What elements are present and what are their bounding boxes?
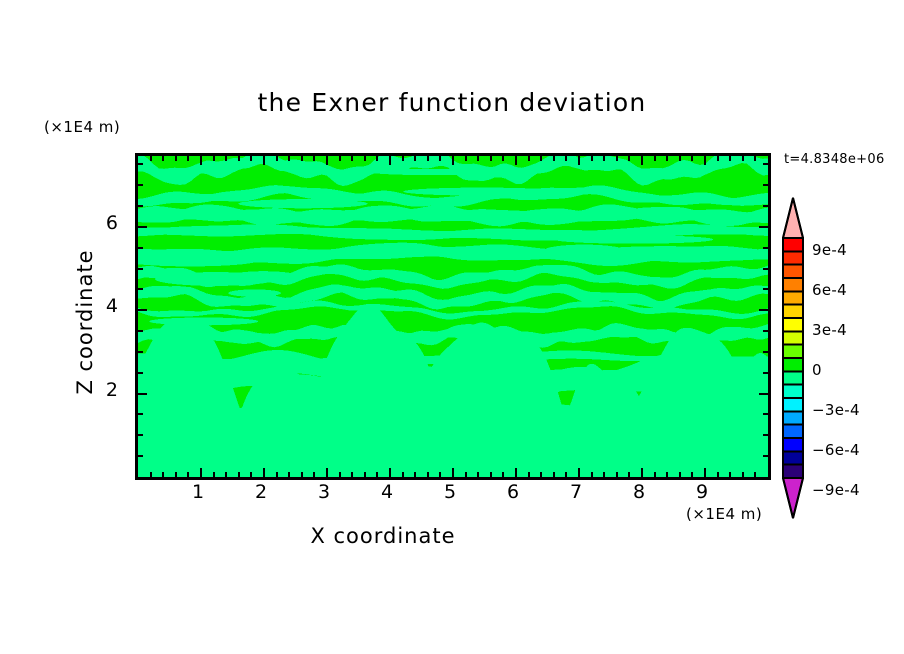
colorbar-tick-label: −9e-4 xyxy=(812,481,860,499)
y-minor-tick xyxy=(763,288,768,290)
x-minor-tick xyxy=(717,472,719,477)
chart-title: the Exner function deviation xyxy=(0,88,904,117)
x-tick-label: 2 xyxy=(241,481,281,503)
x-tick-label: 6 xyxy=(493,481,533,503)
x-tick-label: 4 xyxy=(367,481,407,503)
x-minor-tick xyxy=(490,156,492,161)
x-minor-tick xyxy=(742,472,744,477)
y-minor-tick xyxy=(138,205,143,207)
x-minor-tick xyxy=(465,156,467,161)
x-minor-tick xyxy=(150,156,152,161)
x-minor-tick xyxy=(654,156,656,161)
x-minor-tick xyxy=(162,472,164,477)
y-minor-tick xyxy=(138,351,143,353)
y-minor-tick xyxy=(138,455,143,457)
x-minor-tick xyxy=(742,156,744,161)
x-major-tick xyxy=(326,156,328,165)
x-minor-tick xyxy=(628,472,630,477)
x-minor-tick xyxy=(427,472,429,477)
x-axis-unit-label: (×1E4 m) xyxy=(686,505,762,523)
x-axis-title: X coordinate xyxy=(0,524,766,548)
colorbar xyxy=(782,196,804,520)
x-minor-tick xyxy=(490,472,492,477)
x-minor-tick xyxy=(679,156,681,161)
x-tick-label: 3 xyxy=(304,481,344,503)
y-minor-tick xyxy=(138,268,143,270)
x-minor-tick xyxy=(238,472,240,477)
x-minor-tick xyxy=(339,156,341,161)
y-minor-tick xyxy=(763,205,768,207)
y-minor-tick xyxy=(138,163,143,165)
x-minor-tick xyxy=(553,156,555,161)
x-minor-tick xyxy=(187,472,189,477)
y-minor-tick xyxy=(138,372,143,374)
x-minor-tick xyxy=(540,156,542,161)
x-major-tick xyxy=(515,468,517,477)
x-minor-tick xyxy=(540,472,542,477)
y-major-tick xyxy=(138,309,147,311)
x-minor-tick xyxy=(591,472,593,477)
y-minor-tick xyxy=(138,413,143,415)
x-minor-tick xyxy=(679,472,681,477)
x-minor-tick xyxy=(654,472,656,477)
x-minor-tick xyxy=(187,156,189,161)
x-minor-tick xyxy=(528,156,530,161)
x-minor-tick xyxy=(439,156,441,161)
x-minor-tick xyxy=(276,156,278,161)
y-major-tick xyxy=(138,226,147,228)
y-minor-tick xyxy=(763,413,768,415)
x-minor-tick xyxy=(301,472,303,477)
contour-plot-area xyxy=(135,153,771,480)
x-minor-tick xyxy=(238,156,240,161)
x-minor-tick xyxy=(477,472,479,477)
y-minor-tick xyxy=(763,351,768,353)
x-minor-tick xyxy=(313,472,315,477)
colorbar-tick-label: 0 xyxy=(812,361,822,379)
x-minor-tick xyxy=(376,472,378,477)
y-minor-tick xyxy=(763,163,768,165)
x-tick-label: 8 xyxy=(619,481,659,503)
x-minor-tick xyxy=(376,156,378,161)
x-minor-tick xyxy=(313,156,315,161)
y-major-tick xyxy=(138,393,147,395)
x-tick-label: 5 xyxy=(430,481,470,503)
x-minor-tick xyxy=(414,156,416,161)
y-minor-tick xyxy=(138,247,143,249)
x-minor-tick xyxy=(225,472,227,477)
y-major-tick xyxy=(759,309,768,311)
x-minor-tick xyxy=(591,156,593,161)
x-tick-label: 9 xyxy=(682,481,722,503)
x-minor-tick xyxy=(666,472,668,477)
x-major-tick xyxy=(578,156,580,165)
x-minor-tick xyxy=(691,156,693,161)
x-major-tick xyxy=(263,156,265,165)
x-minor-tick xyxy=(565,156,567,161)
x-tick-label: 7 xyxy=(556,481,596,503)
x-major-tick xyxy=(515,156,517,165)
x-minor-tick xyxy=(402,472,404,477)
x-minor-tick xyxy=(603,472,605,477)
x-major-tick xyxy=(704,156,706,165)
x-minor-tick xyxy=(616,472,618,477)
y-minor-tick xyxy=(763,184,768,186)
x-minor-tick xyxy=(339,472,341,477)
x-major-tick xyxy=(641,468,643,477)
timestamp-annotation: t=4.8348e+06 xyxy=(784,152,885,167)
x-minor-tick xyxy=(427,156,429,161)
y-major-tick xyxy=(759,393,768,395)
x-minor-tick xyxy=(162,156,164,161)
x-minor-tick xyxy=(250,156,252,161)
x-minor-tick xyxy=(213,472,215,477)
x-minor-tick xyxy=(213,156,215,161)
y-minor-tick xyxy=(763,455,768,457)
x-minor-tick xyxy=(729,156,731,161)
colorbar-tick-label: 3e-4 xyxy=(812,321,847,339)
colorbar-tick-label: −3e-4 xyxy=(812,401,860,419)
x-minor-tick xyxy=(477,156,479,161)
colorbar-tick-label: 6e-4 xyxy=(812,281,847,299)
x-minor-tick xyxy=(250,472,252,477)
x-minor-tick xyxy=(666,156,668,161)
x-minor-tick xyxy=(565,472,567,477)
x-minor-tick xyxy=(414,472,416,477)
x-minor-tick xyxy=(301,156,303,161)
y-minor-tick xyxy=(138,434,143,436)
x-major-tick xyxy=(452,468,454,477)
x-major-tick xyxy=(389,156,391,165)
x-minor-tick xyxy=(465,472,467,477)
y-tick-label: 2 xyxy=(92,379,118,401)
x-minor-tick xyxy=(175,472,177,477)
y-minor-tick xyxy=(138,184,143,186)
x-minor-tick xyxy=(288,156,290,161)
y-minor-tick xyxy=(763,268,768,270)
x-minor-tick xyxy=(528,472,530,477)
x-minor-tick xyxy=(150,472,152,477)
x-minor-tick xyxy=(175,156,177,161)
x-minor-tick xyxy=(402,156,404,161)
y-minor-tick xyxy=(763,434,768,436)
x-minor-tick xyxy=(502,156,504,161)
y-minor-tick xyxy=(138,288,143,290)
x-minor-tick xyxy=(754,472,756,477)
x-major-tick xyxy=(704,468,706,477)
x-minor-tick xyxy=(351,472,353,477)
x-minor-tick xyxy=(276,472,278,477)
x-minor-tick xyxy=(225,156,227,161)
x-major-tick xyxy=(263,468,265,477)
colorbar-tick-label: −6e-4 xyxy=(812,441,860,459)
x-minor-tick xyxy=(439,472,441,477)
x-tick-label: 1 xyxy=(178,481,218,503)
y-axis-unit-label: (×1E4 m) xyxy=(44,118,120,136)
y-minor-tick xyxy=(138,330,143,332)
x-minor-tick xyxy=(603,156,605,161)
x-minor-tick xyxy=(351,156,353,161)
x-minor-tick xyxy=(691,472,693,477)
y-tick-label: 6 xyxy=(92,212,118,234)
y-tick-label: 4 xyxy=(92,295,118,317)
x-major-tick xyxy=(389,468,391,477)
x-minor-tick xyxy=(364,472,366,477)
colorbar-tick-label: 9e-4 xyxy=(812,241,847,259)
y-major-tick xyxy=(759,226,768,228)
y-minor-tick xyxy=(763,247,768,249)
x-minor-tick xyxy=(628,156,630,161)
x-minor-tick xyxy=(502,472,504,477)
x-major-tick xyxy=(200,156,202,165)
y-minor-tick xyxy=(763,372,768,374)
x-minor-tick xyxy=(717,156,719,161)
x-minor-tick xyxy=(553,472,555,477)
x-minor-tick xyxy=(729,472,731,477)
x-minor-tick xyxy=(288,472,290,477)
contour-field xyxy=(138,156,768,477)
x-minor-tick xyxy=(364,156,366,161)
x-major-tick xyxy=(452,156,454,165)
x-minor-tick xyxy=(616,156,618,161)
x-major-tick xyxy=(200,468,202,477)
x-major-tick xyxy=(641,156,643,165)
x-major-tick xyxy=(326,468,328,477)
x-minor-tick xyxy=(754,156,756,161)
y-minor-tick xyxy=(763,330,768,332)
x-major-tick xyxy=(578,468,580,477)
